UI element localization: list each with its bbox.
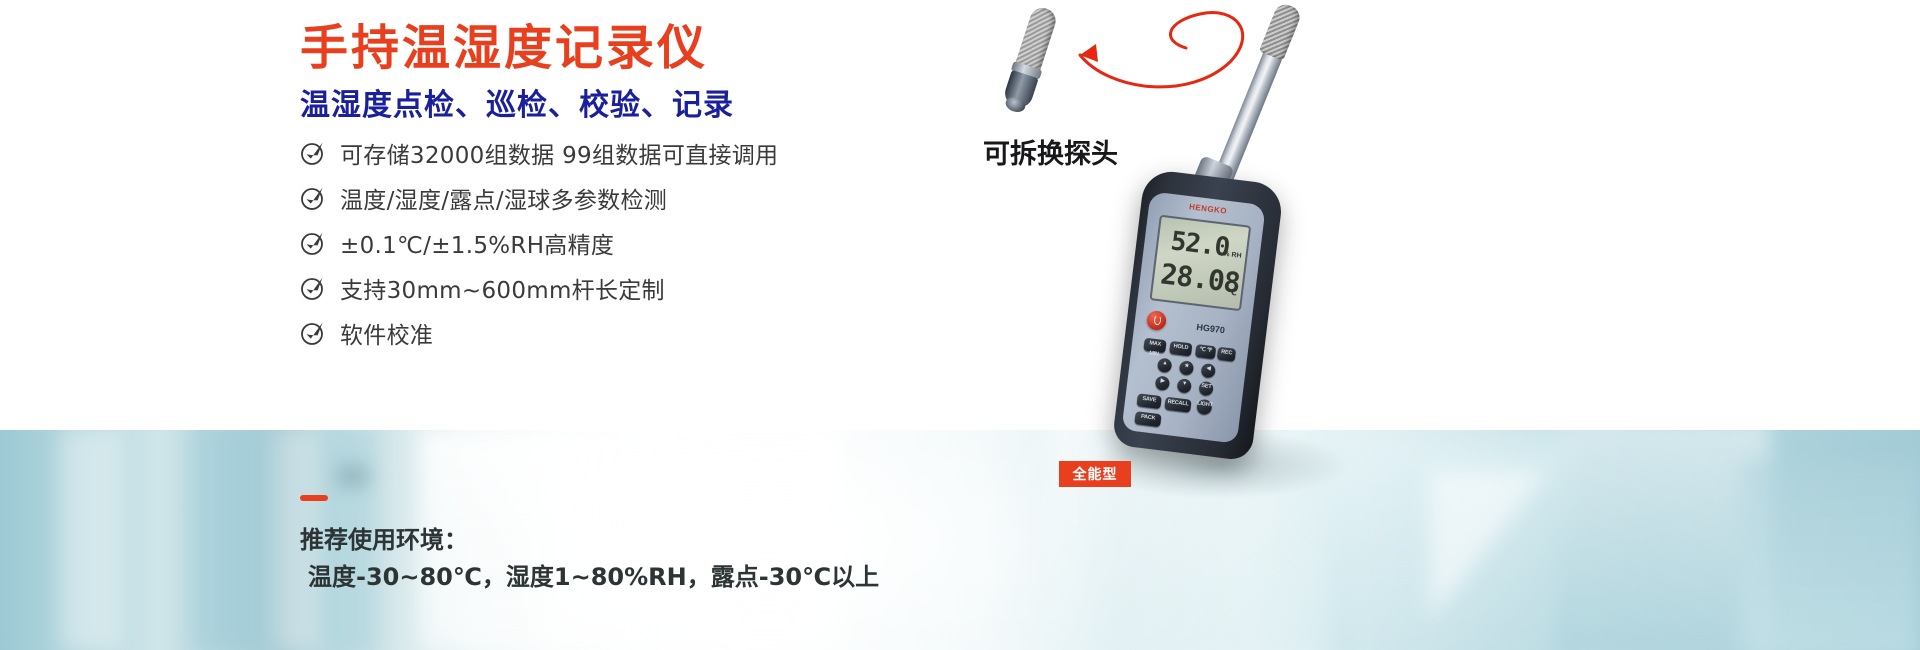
environment-label: 推荐使用环境：: [300, 520, 468, 555]
brand-logo: HENGKO: [1189, 202, 1228, 216]
environment-photo-band: [0, 430, 1920, 650]
key-left[interactable]: ◀: [1200, 363, 1216, 379]
key-light[interactable]: LIGHT: [1196, 399, 1213, 416]
band-shape-shelf-b: [190, 430, 272, 650]
key-star[interactable]: ★: [1179, 360, 1195, 376]
feature-text: ±0.1℃/±1.5%RH高精度: [340, 226, 614, 260]
probe-callout-label: 可拆换探头: [983, 132, 1118, 171]
band-shape-glass-3: [1560, 430, 1770, 650]
key-recall[interactable]: RECALL: [1164, 397, 1191, 413]
feature-list: 可存储32000组数据 99组数据可直接调用 温度/湿度/露点/湿球多参数检测 …: [300, 130, 778, 355]
circle-check-icon: [300, 320, 326, 346]
key-pack[interactable]: PACK: [1134, 411, 1161, 427]
page-subtitle: 温湿度点检、巡检、校验、记录: [300, 80, 734, 124]
handheld-meter-body: HENGKO 52.0 % RH 28.08 ℃ HG970 MAX MIN H…: [1112, 169, 1285, 462]
feature-text: 可存储32000组数据 99组数据可直接调用: [340, 136, 778, 170]
feature-text: 支持30mm~600mm杆长定制: [340, 271, 665, 305]
circle-check-icon: [300, 275, 326, 301]
feature-item: 软件校准: [300, 310, 778, 355]
feature-item: 支持30mm~600mm杆长定制: [300, 265, 778, 310]
feature-item: 温度/湿度/露点/湿球多参数检测: [300, 175, 778, 220]
lcd-display: 52.0 % RH 28.08 ℃: [1149, 215, 1251, 312]
feature-item: ±0.1℃/±1.5%RH高精度: [300, 220, 778, 265]
key-set[interactable]: SET: [1198, 381, 1214, 397]
feature-item: 可存储32000组数据 99组数据可直接调用: [300, 130, 778, 175]
key-hold[interactable]: HOLD: [1169, 341, 1192, 357]
key-right[interactable]: ▶: [1155, 375, 1171, 391]
key-save[interactable]: SAVE: [1136, 393, 1161, 409]
product-banner: 手持温湿度记录仪 温湿度点检、巡检、校验、记录 可存储32000组数据 99组数…: [0, 0, 1920, 650]
band-shape-triangle: [1430, 470, 1550, 620]
feature-text: 温度/湿度/露点/湿球多参数检测: [340, 181, 667, 215]
circle-check-icon: [300, 140, 326, 166]
environment-value: 温度-30~80℃，湿度1~80%RH，露点-30℃以上: [308, 557, 879, 592]
keypad: MAX MIN HOLD ℃ ℉ REC ▲ ★ ◀ ▶ ▼ SET SAVE …: [1143, 337, 1238, 349]
status-badge: 全能型: [1059, 461, 1131, 487]
key-up[interactable]: ▲: [1157, 358, 1173, 374]
key-unit[interactable]: ℃ ℉: [1195, 344, 1216, 359]
band-shape-soft-glow: [560, 430, 1080, 650]
band-shape-shelf-a: [60, 430, 120, 650]
meter-front-panel: HENGKO 52.0 % RH 28.08 ℃ HG970 MAX MIN H…: [1121, 191, 1265, 443]
model-number: HG970: [1196, 322, 1226, 335]
band-shape-door-knob: [338, 468, 368, 484]
lcd-temperature-unit: ℃: [1227, 287, 1238, 297]
power-button[interactable]: [1146, 310, 1167, 331]
key-rec[interactable]: REC: [1217, 347, 1236, 362]
feature-text: 软件校准: [340, 316, 433, 350]
circle-check-icon: [300, 230, 326, 256]
lcd-humidity-value: 52.0: [1169, 226, 1231, 263]
band-blur-layer: [0, 430, 1920, 650]
page-title: 手持温湿度记录仪: [300, 8, 708, 78]
key-maxmin[interactable]: MAX MIN: [1143, 338, 1166, 354]
circle-check-icon: [300, 185, 326, 211]
band-shape-glass-4: [1740, 460, 1920, 650]
red-dash-marker: [300, 495, 328, 501]
key-down[interactable]: ▼: [1176, 378, 1192, 394]
